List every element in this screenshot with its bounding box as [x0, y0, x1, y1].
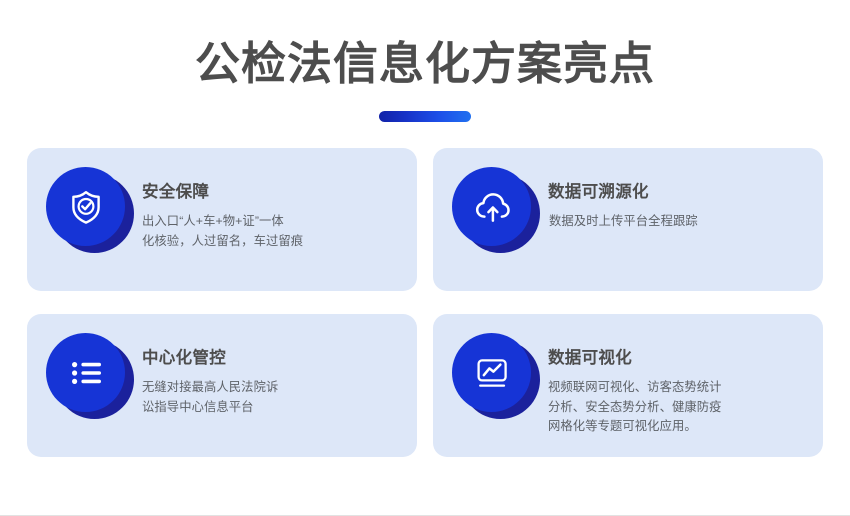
feature-card-security[interactable]: 安全保障 出入口“人+车+物+证”一体 化核验，人过留名，车过留痕: [27, 148, 417, 291]
icon-circle: [452, 333, 531, 412]
cloud-upload-icon: [471, 186, 513, 228]
card-description: 无缝对接最高人民法院诉 讼指导中心信息平台: [142, 378, 401, 417]
card-description: 视频联网可视化、访客态势统计 分析、安全态势分析、健康防疫 网格化等专题可视化应…: [548, 378, 807, 437]
feature-card-data-visualization[interactable]: 数据可视化 视频联网可视化、访客态势统计 分析、安全态势分析、健康防疫 网格化等…: [433, 314, 823, 457]
icon-badge: [44, 165, 136, 257]
line-chart-monitor-icon: [472, 353, 512, 393]
title-underline-bar: [379, 111, 471, 122]
card-body: 安全保障 出入口“人+车+物+证”一体 化核验，人过留名，车过留痕: [142, 165, 401, 251]
page-root: 公检法信息化方案亮点 安全保障 出: [0, 0, 850, 515]
shield-check-icon: [66, 187, 106, 227]
card-body: 数据可视化 视频联网可视化、访客态势统计 分析、安全态势分析、健康防疫 网格化等…: [548, 331, 807, 437]
card-body: 数据可溯源化 数据及时上传平台全程跟踪: [548, 165, 807, 232]
icon-badge: [450, 165, 542, 257]
icon-badge: [44, 331, 136, 423]
feature-card-data-traceability[interactable]: 数据可溯源化 数据及时上传平台全程跟踪: [433, 148, 823, 291]
card-title: 安全保障: [142, 181, 401, 203]
icon-badge: [450, 331, 542, 423]
card-body: 中心化管控 无缝对接最高人民法院诉 讼指导中心信息平台: [142, 331, 401, 417]
card-description: 出入口“人+车+物+证”一体 化核验，人过留名，车过留痕: [142, 212, 401, 251]
card-description: 数据及时上传平台全程跟踪: [548, 212, 807, 232]
card-title: 数据可视化: [548, 347, 807, 369]
icon-circle: [46, 333, 125, 412]
icon-circle: [452, 167, 531, 246]
card-title: 数据可溯源化: [548, 181, 807, 203]
icon-circle: [46, 167, 125, 246]
page-header: 公检法信息化方案亮点: [0, 0, 850, 122]
bullet-list-icon: [66, 353, 106, 393]
page-title: 公检法信息化方案亮点: [0, 36, 850, 92]
feature-card-centralized-control[interactable]: 中心化管控 无缝对接最高人民法院诉 讼指导中心信息平台: [27, 314, 417, 457]
feature-card-grid: 安全保障 出入口“人+车+物+证”一体 化核验，人过留名，车过留痕: [27, 122, 823, 457]
card-title: 中心化管控: [142, 347, 401, 369]
